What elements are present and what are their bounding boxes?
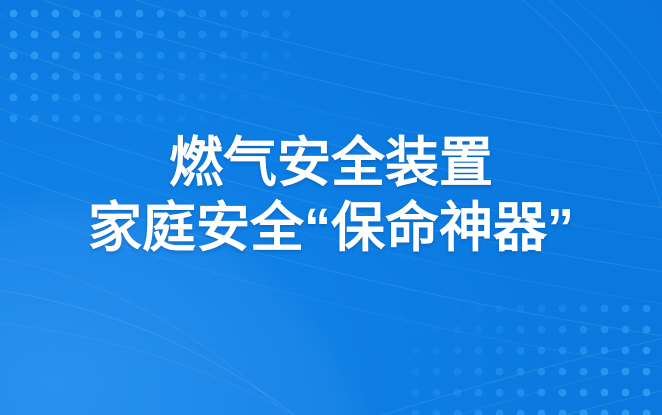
headline-line-1: 燃气安全装置 bbox=[0, 132, 662, 194]
dot-grid-bottom-right bbox=[402, 295, 662, 415]
headline-line-2: 家庭安全“保命神器” bbox=[0, 197, 662, 259]
gas-safety-banner: 燃气安全装置 家庭安全“保命神器” bbox=[0, 0, 662, 415]
dot-grid-top-left bbox=[0, 0, 300, 135]
page-title: 燃气安全装置 家庭安全“保命神器” bbox=[0, 132, 662, 259]
